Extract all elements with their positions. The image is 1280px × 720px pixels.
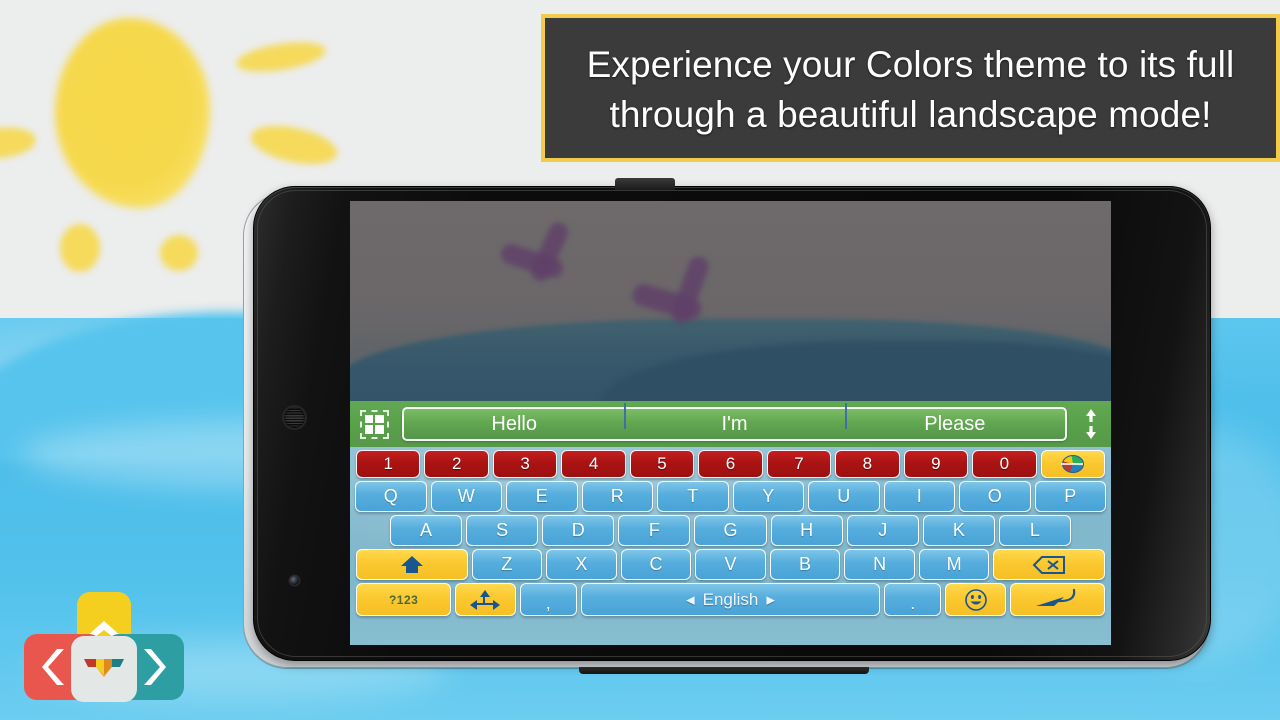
promo-line-2: through a beautiful landscape mode! xyxy=(545,90,1276,140)
key-s[interactable]: S xyxy=(466,515,538,546)
key-t[interactable]: T xyxy=(657,481,729,512)
sun-ray-bottom-mid xyxy=(160,235,198,271)
expand-suggestions-button[interactable] xyxy=(1071,401,1111,447)
logo-tile-center xyxy=(71,636,137,702)
suggestion-item-1[interactable]: Hello xyxy=(404,414,624,434)
key-x[interactable]: X xyxy=(546,549,617,580)
backspace-icon xyxy=(1032,555,1066,575)
up-down-arrows-icon xyxy=(1083,408,1099,440)
front-camera-icon xyxy=(290,576,299,585)
speaker-grille-icon xyxy=(282,405,307,430)
suggestion-strip: Hello I'm Please xyxy=(402,407,1067,441)
key-i[interactable]: I xyxy=(884,481,956,512)
arrow-keys-key[interactable] xyxy=(455,583,515,616)
globe-icon xyxy=(1062,455,1084,473)
screenshot-root: Experience your Colors theme to its full… xyxy=(0,0,1280,720)
key-y[interactable]: Y xyxy=(733,481,805,512)
sun-ray-bottom-left xyxy=(60,224,100,272)
smiley-icon xyxy=(964,588,988,612)
key-h[interactable]: H xyxy=(771,515,843,546)
symbols-key-label: ?123 xyxy=(389,593,418,607)
key-a[interactable]: A xyxy=(390,515,462,546)
key-0[interactable]: 0 xyxy=(972,450,1036,478)
key-m[interactable]: M xyxy=(919,549,990,580)
key-w[interactable]: W xyxy=(431,481,503,512)
key-7[interactable]: 7 xyxy=(767,450,831,478)
phone-screen[interactable]: Hello I'm Please 1 2 3 4 5 6 7 xyxy=(350,201,1111,645)
sun-ray-top-right xyxy=(235,37,328,77)
key-o[interactable]: O xyxy=(959,481,1031,512)
promo-callout: Experience your Colors theme to its full… xyxy=(541,14,1280,162)
space-language-label: English xyxy=(703,590,759,610)
key-9[interactable]: 9 xyxy=(904,450,968,478)
period-key[interactable]: . xyxy=(884,583,941,616)
phone-top-button[interactable] xyxy=(615,178,675,190)
tri-color-chevron-down-icon xyxy=(82,657,126,681)
suggestion-bar: Hello I'm Please xyxy=(350,401,1111,447)
keyboard-row-home: A S D F G H J K L xyxy=(352,515,1109,546)
keyboard: 1 2 3 4 5 6 7 8 9 0 Q W E R T xyxy=(350,447,1111,645)
sun-icon xyxy=(55,18,210,208)
grid-menu-button[interactable] xyxy=(350,401,398,447)
chevron-left-icon xyxy=(42,647,68,687)
sun-ray-right xyxy=(247,119,340,171)
wallpaper xyxy=(350,201,1111,401)
keyboard-row-zxcv: Z X C V B N M xyxy=(352,549,1109,580)
key-z[interactable]: Z xyxy=(472,549,543,580)
key-n[interactable]: N xyxy=(844,549,915,580)
enter-return-icon xyxy=(1034,588,1080,612)
space-next-language-arrow: ▸ xyxy=(766,590,775,610)
four-arrows-icon xyxy=(469,589,501,611)
shift-arrow-icon xyxy=(399,555,425,575)
promo-line-1: Experience your Colors theme to its full xyxy=(545,40,1276,90)
language-globe-key[interactable] xyxy=(1041,450,1105,478)
promo-callout-text: Experience your Colors theme to its full… xyxy=(545,18,1276,140)
key-1[interactable]: 1 xyxy=(356,450,420,478)
suggestion-item-3[interactable]: Please xyxy=(845,414,1065,434)
key-g[interactable]: G xyxy=(694,515,766,546)
key-2[interactable]: 2 xyxy=(424,450,488,478)
key-l[interactable]: L xyxy=(999,515,1071,546)
sun-ray-left xyxy=(0,124,37,161)
key-q[interactable]: Q xyxy=(355,481,427,512)
key-5[interactable]: 5 xyxy=(630,450,694,478)
comma-key[interactable]: , xyxy=(520,583,577,616)
keyboard-app-logo xyxy=(24,592,184,708)
key-k[interactable]: K xyxy=(923,515,995,546)
key-j[interactable]: J xyxy=(847,515,919,546)
key-u[interactable]: U xyxy=(808,481,880,512)
symbols-key[interactable]: ?123 xyxy=(356,583,451,616)
space-prev-language-arrow: ◂ xyxy=(686,590,695,610)
grid-menu-icon xyxy=(360,410,389,439)
phone-bottom-edge xyxy=(579,667,869,674)
key-p[interactable]: P xyxy=(1035,481,1107,512)
key-4[interactable]: 4 xyxy=(561,450,625,478)
keyboard-row-bottom: ?123 , ◂ English ▸ . xyxy=(352,583,1109,616)
key-e[interactable]: E xyxy=(506,481,578,512)
suggestion-item-2[interactable]: I'm xyxy=(624,414,844,434)
key-f[interactable]: F xyxy=(618,515,690,546)
chevron-right-icon xyxy=(140,647,166,687)
key-v[interactable]: V xyxy=(695,549,766,580)
key-6[interactable]: 6 xyxy=(698,450,762,478)
keyboard-row-numbers: 1 2 3 4 5 6 7 8 9 0 xyxy=(352,450,1109,478)
space-key[interactable]: ◂ English ▸ xyxy=(581,583,880,616)
emoji-key[interactable] xyxy=(945,583,1005,616)
key-d[interactable]: D xyxy=(542,515,614,546)
key-b[interactable]: B xyxy=(770,549,841,580)
keyboard-row-qwerty: Q W E R T Y U I O P xyxy=(352,481,1109,512)
key-c[interactable]: C xyxy=(621,549,692,580)
key-8[interactable]: 8 xyxy=(835,450,899,478)
backspace-key[interactable] xyxy=(993,549,1105,580)
key-3[interactable]: 3 xyxy=(493,450,557,478)
shift-key[interactable] xyxy=(356,549,468,580)
key-r[interactable]: R xyxy=(582,481,654,512)
enter-key[interactable] xyxy=(1010,583,1105,616)
